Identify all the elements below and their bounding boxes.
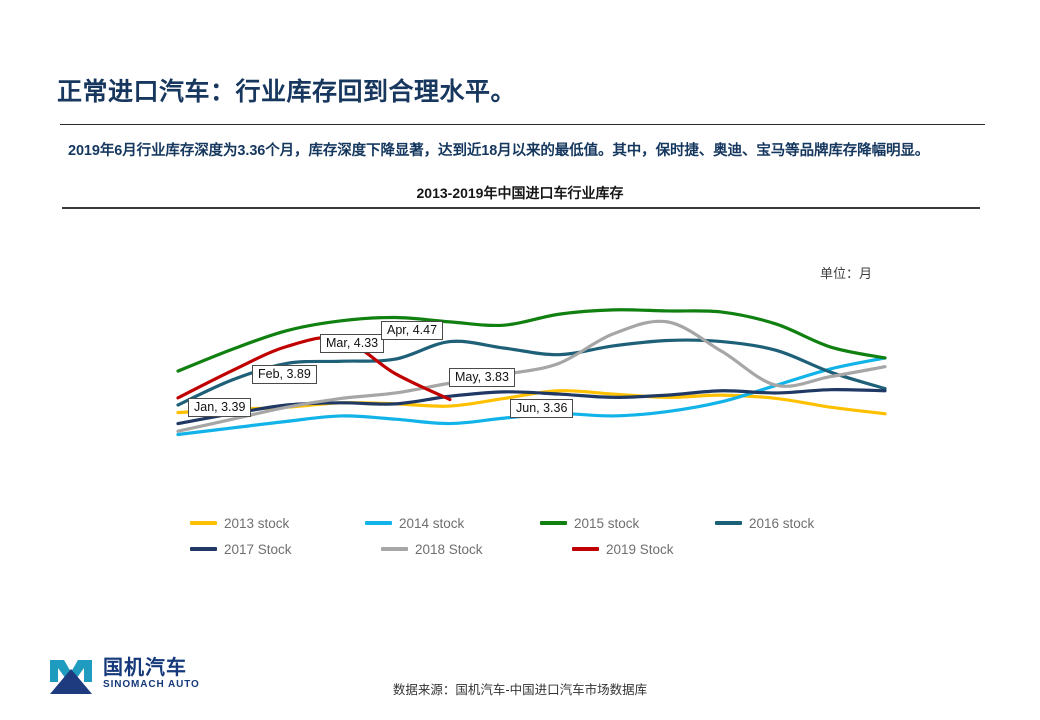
legend-item-2014-stock[interactable]: 2014 stock <box>365 516 540 531</box>
callout-mar: Mar, 4.33 <box>320 334 384 353</box>
callout-jan: Jan, 3.39 <box>188 398 251 417</box>
legend-swatch-icon <box>572 547 599 551</box>
legend-item-2013-stock[interactable]: 2013 stock <box>190 516 365 531</box>
chart-legend: 2013 stock 2014 stock 2015 stock 2016 st… <box>190 510 890 562</box>
series-line-2015-stock <box>178 310 885 371</box>
legend-label: 2017 Stock <box>224 542 292 557</box>
line-chart-plot <box>0 0 1040 720</box>
legend-item-2016-stock[interactable]: 2016 stock <box>715 516 890 531</box>
legend-item-2019-stock[interactable]: 2019 Stock <box>572 542 763 557</box>
legend-swatch-icon <box>540 521 567 525</box>
legend-label: 2014 stock <box>399 516 464 531</box>
legend-label: 2013 stock <box>224 516 289 531</box>
page-title: 正常进口汽车：行业库存回到合理水平。 <box>57 72 516 108</box>
chart-divider <box>62 207 980 209</box>
legend-swatch-icon <box>365 521 392 525</box>
legend-row-1: 2013 stock 2014 stock 2015 stock 2016 st… <box>190 510 890 536</box>
callout-apr: Apr, 4.47 <box>381 321 443 340</box>
legend-item-2018-stock[interactable]: 2018 Stock <box>381 542 572 557</box>
source-note: 数据来源：国机汽车-中国进口汽车市场数据库 <box>0 679 1040 698</box>
legend-item-2017-stock[interactable]: 2017 Stock <box>190 542 381 557</box>
legend-label: 2019 Stock <box>606 542 674 557</box>
callout-may: May, 3.83 <box>449 368 515 387</box>
logo-name-cn: 国机汽车 <box>103 658 200 679</box>
subtitle-text: 2019年6月行业库存深度为3.36个月，库存深度下降显著，达到近18月以来的最… <box>68 140 980 162</box>
legend-swatch-icon <box>381 547 408 551</box>
legend-label: 2016 stock <box>749 516 814 531</box>
legend-label: 2018 Stock <box>415 542 483 557</box>
legend-label: 2015 stock <box>574 516 639 531</box>
chart-title: 2013-2019年中国进口车行业库存 <box>0 183 1040 203</box>
slide-canvas: 正常进口汽车：行业库存回到合理水平。 2019年6月行业库存深度为3.36个月，… <box>0 0 1040 720</box>
title-divider <box>60 124 985 125</box>
callout-jun: Jun, 3.36 <box>510 399 573 418</box>
legend-swatch-icon <box>190 547 217 551</box>
legend-swatch-icon <box>190 521 217 525</box>
legend-row-2: 2017 Stock 2018 Stock 2019 Stock <box>190 536 890 562</box>
legend-swatch-icon <box>715 521 742 525</box>
callout-feb: Feb, 3.89 <box>252 365 317 384</box>
unit-label: 单位：月 <box>820 263 872 282</box>
legend-item-2015-stock[interactable]: 2015 stock <box>540 516 715 531</box>
